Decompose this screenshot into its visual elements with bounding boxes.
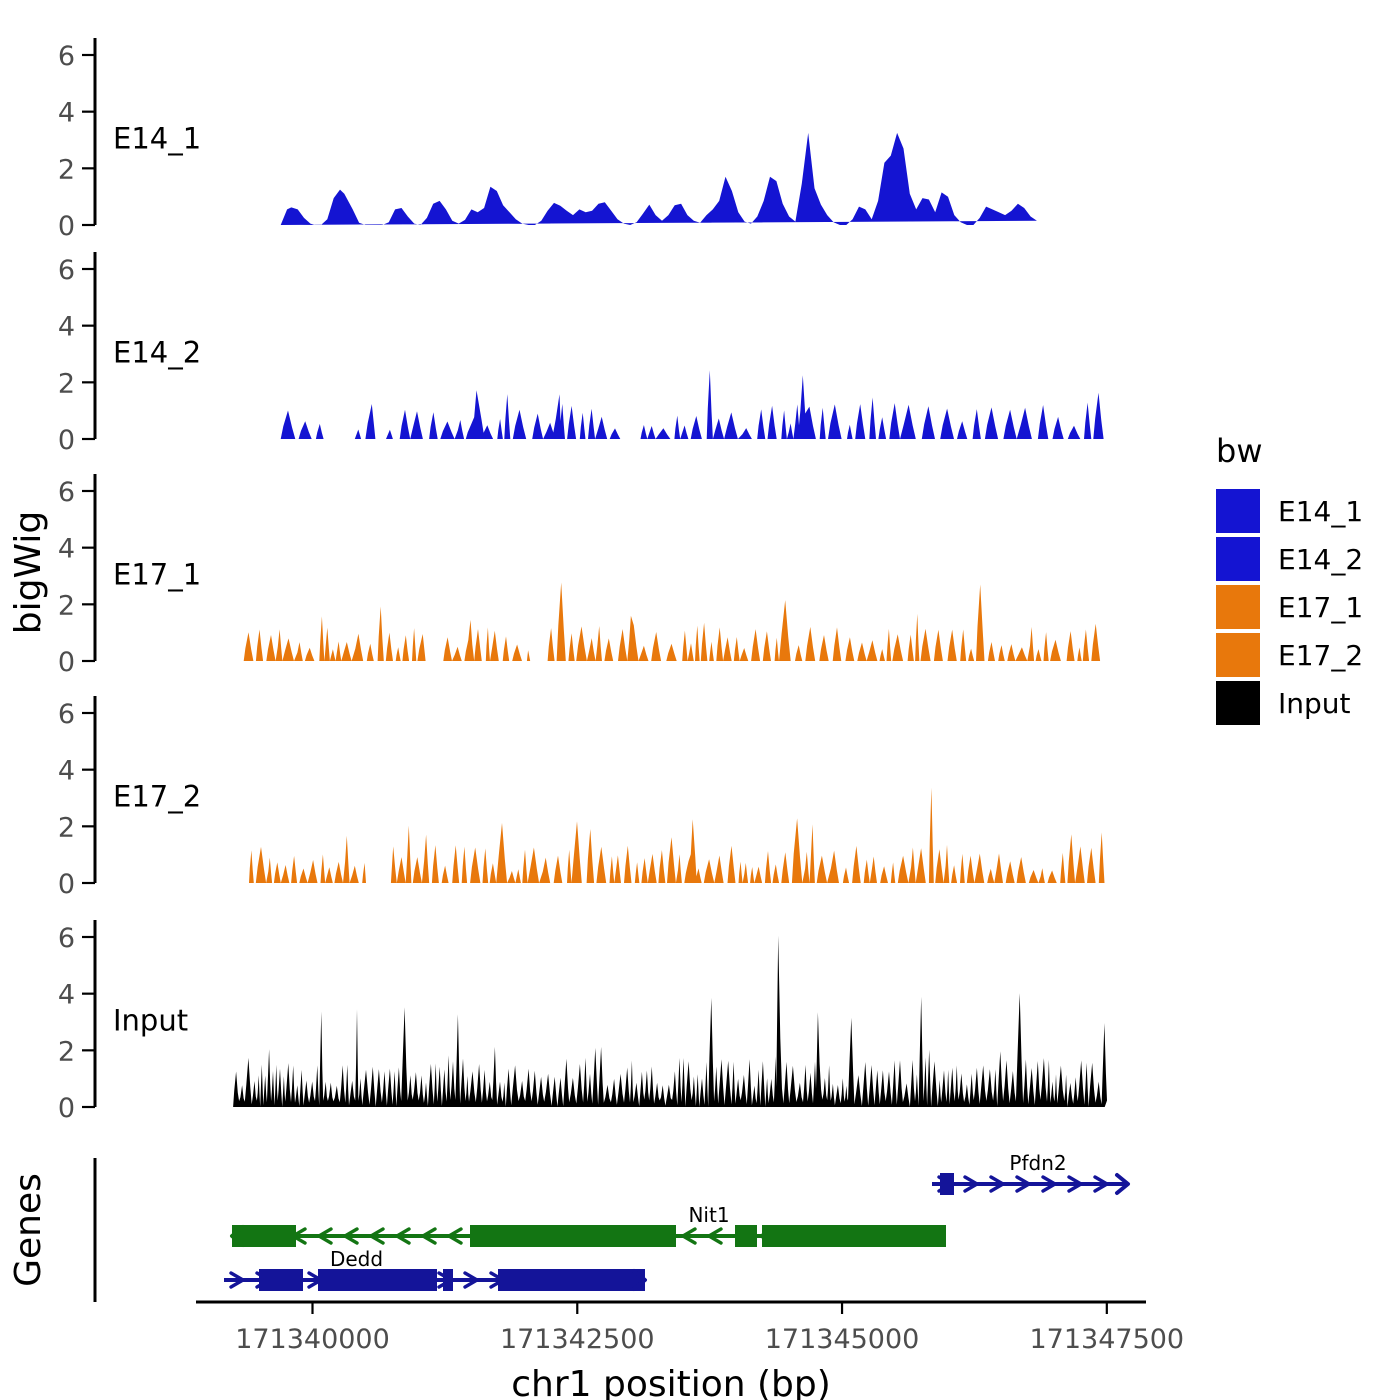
panel-label-E14_2: E14_2 [113, 336, 201, 370]
bigwig-panel-Input: 0246Input [58, 920, 1107, 1124]
y-tick-label: 2 [58, 590, 75, 621]
gene-exon [318, 1269, 437, 1291]
y-axis-title-group: bigWig [8, 511, 49, 634]
y-tick-label: 4 [58, 98, 75, 129]
legend-title: bw [1216, 432, 1262, 470]
legend-item-E17_1[interactable]: E17_1 [1216, 585, 1363, 629]
x-axis: 171340000171342500171345000171347500chr1… [196, 1302, 1184, 1400]
panel-label-E17_2: E17_2 [113, 780, 201, 814]
gene-Nit1[interactable]: Nit1 [232, 1203, 946, 1247]
figure-canvas: 0246E14_10246E14_20246E17_10246E17_20246… [0, 0, 1400, 1400]
legend-item-E14_1[interactable]: E14_1 [1216, 489, 1363, 533]
y-tick-label: 6 [58, 41, 75, 72]
legend: bwE14_1E14_2E17_1E17_2Input [1216, 432, 1363, 725]
gene-label-Nit1: Nit1 [688, 1203, 729, 1227]
y-tick-label: 6 [58, 255, 75, 286]
x-tick-label: 171347500 [1030, 1324, 1185, 1355]
legend-swatch [1216, 585, 1260, 629]
bigwig-track-E17_2 [249, 788, 1108, 883]
legend-label: Input [1278, 687, 1351, 720]
gene-exon [443, 1269, 453, 1291]
gene-label-Dedd: Dedd [330, 1247, 383, 1271]
y-tick-label: 4 [58, 312, 75, 343]
legend-swatch [1216, 633, 1260, 677]
legend-label: E14_2 [1278, 543, 1363, 576]
y-tick-label: 2 [58, 368, 75, 399]
panel-label-E14_1: E14_1 [113, 122, 201, 156]
bigwig-track-E17_1 [244, 583, 1100, 662]
legend-label: E14_1 [1278, 495, 1363, 528]
genome-browser-figure: 0246E14_10246E14_20246E17_10246E17_20246… [0, 0, 1400, 1400]
y-tick-label: 4 [58, 756, 75, 787]
x-tick-label: 171340000 [235, 1324, 390, 1355]
y-tick-label: 0 [58, 647, 75, 678]
genes-axis-title: Genes [8, 1173, 49, 1287]
legend-swatch [1216, 681, 1260, 725]
y-tick-label: 0 [58, 1093, 75, 1124]
bigwig-track-Input [233, 936, 1107, 1107]
y-tick-label: 4 [58, 534, 75, 565]
bigwig-panel-E17_1: 0246E17_1 [58, 474, 1100, 678]
gene-exon [940, 1173, 954, 1195]
y-tick-label: 2 [58, 154, 75, 185]
y-tick-label: 4 [58, 980, 75, 1011]
legend-item-E17_2[interactable]: E17_2 [1216, 633, 1363, 677]
legend-label: E17_2 [1278, 639, 1363, 672]
gene-Pfdn2[interactable]: Pfdn2 [932, 1151, 1128, 1195]
x-tick-label: 171342500 [500, 1324, 655, 1355]
bigwig-track-E14_1 [281, 133, 1037, 225]
bigwig-panel-E17_2: 0246E17_2 [58, 696, 1108, 900]
gene-exon [498, 1269, 645, 1291]
gene-exon [470, 1225, 676, 1247]
y-tick-label: 0 [58, 211, 75, 242]
y-tick-label: 6 [58, 477, 75, 508]
legend-swatch [1216, 489, 1260, 533]
gene-exon [259, 1269, 303, 1291]
y-tick-label: 2 [58, 812, 75, 843]
gene-Dedd[interactable]: Dedd [224, 1247, 645, 1291]
bigwig-panel-E14_1: 0246E14_1 [58, 38, 1037, 242]
bigwig-track-E14_2 [281, 370, 1104, 439]
gene-label-Pfdn2: Pfdn2 [1009, 1151, 1066, 1175]
y-tick-label: 6 [58, 923, 75, 954]
legend-label: E17_1 [1278, 591, 1363, 624]
x-axis-title: chr1 position (bp) [511, 1364, 831, 1400]
legend-item-Input[interactable]: Input [1216, 681, 1351, 725]
gene-exon [762, 1225, 946, 1247]
y-tick-label: 2 [58, 1036, 75, 1067]
panel-label-Input: Input [113, 1004, 188, 1038]
gene-exon [735, 1225, 757, 1247]
legend-swatch [1216, 537, 1260, 581]
y-axis-title: bigWig [8, 511, 49, 634]
panel-label-E17_1: E17_1 [113, 558, 201, 592]
genes-panel: GenesPfdn2Nit1Dedd [8, 1151, 1128, 1302]
bigwig-panel-E14_2: 0246E14_2 [58, 252, 1104, 456]
y-tick-label: 0 [58, 425, 75, 456]
x-tick-label: 171345000 [765, 1324, 920, 1355]
y-tick-label: 6 [58, 699, 75, 730]
y-tick-label: 0 [58, 869, 75, 900]
legend-item-E14_2[interactable]: E14_2 [1216, 537, 1363, 581]
